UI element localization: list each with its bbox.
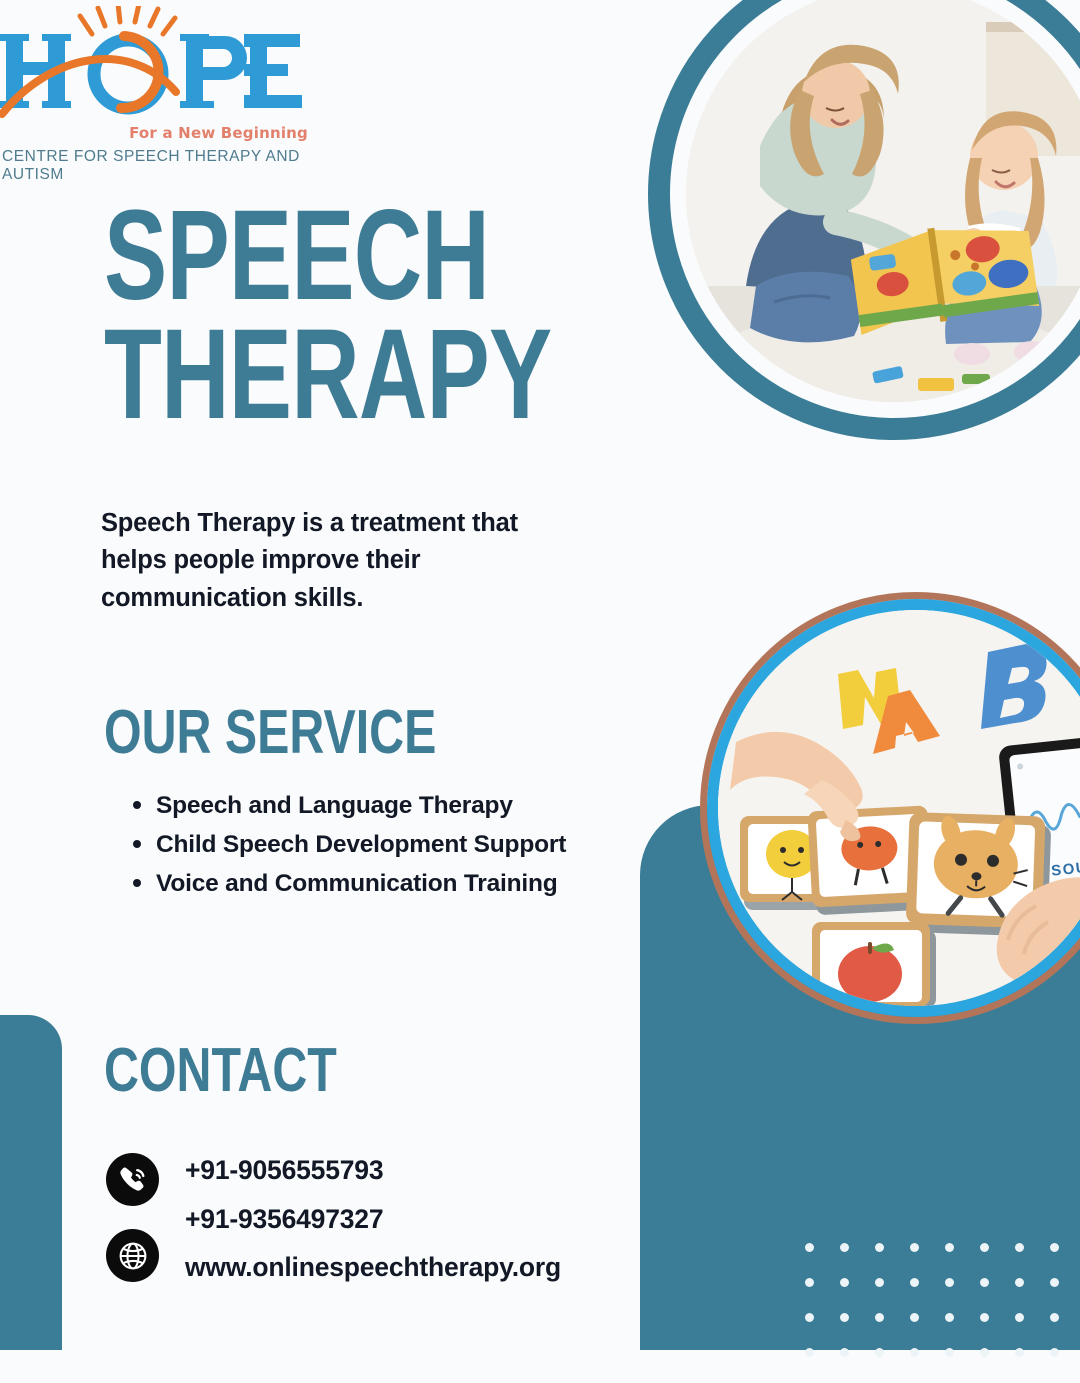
service-list-item: Child Speech Development Support	[128, 825, 648, 864]
decorative-dot	[805, 1348, 814, 1357]
decorative-dot	[1015, 1348, 1024, 1357]
hope-logo-icon	[0, 6, 330, 126]
page-title: SPEECH THERAPY	[104, 196, 452, 434]
decorative-dot	[1050, 1278, 1059, 1287]
decorative-dot	[875, 1313, 884, 1322]
contact-phone-1[interactable]: +91-9056555793	[185, 1155, 383, 1186]
decorative-dot	[945, 1348, 954, 1357]
decorative-dot	[910, 1243, 919, 1252]
decorative-dot	[1050, 1348, 1059, 1357]
decorative-dot	[805, 1313, 814, 1322]
decorative-dot	[875, 1243, 884, 1252]
contact-phone-2[interactable]: +91-9356497327	[185, 1204, 383, 1235]
decorative-dot	[980, 1313, 989, 1322]
decorative-dot	[1015, 1313, 1024, 1322]
headline-line-1: SPEECH	[104, 196, 452, 315]
decorative-dot-grid	[805, 1243, 1080, 1383]
decorative-dot	[980, 1243, 989, 1252]
decorative-dot	[840, 1278, 849, 1287]
decorative-dot	[1015, 1278, 1024, 1287]
intro-paragraph: Speech Therapy is a treatment that helps…	[101, 505, 531, 617]
decorative-dot	[980, 1278, 989, 1287]
contact-heading: CONTACT	[104, 1040, 337, 1102]
service-list-item: Voice and Communication Training	[128, 864, 648, 903]
services-list: Speech and Language TherapyChild Speech …	[128, 786, 648, 904]
decorative-dot	[980, 1348, 989, 1357]
decorative-dot	[840, 1243, 849, 1252]
contact-website[interactable]: www.onlinespeechtherapy.org	[185, 1252, 561, 1283]
decorative-dot	[910, 1348, 919, 1357]
photo-child-flashcards: SOUN	[700, 592, 1080, 1024]
decorative-dot	[840, 1348, 849, 1357]
decorative-dot	[875, 1348, 884, 1357]
logo-tagline: For a New Beginning	[129, 124, 308, 142]
services-heading: OUR SERVICE	[104, 702, 436, 764]
decorative-dot	[910, 1278, 919, 1287]
decorative-dot	[840, 1313, 849, 1322]
service-list-item: Speech and Language Therapy	[128, 786, 648, 825]
photo-mother-child-reading	[648, 0, 1080, 440]
decorative-dot	[805, 1243, 814, 1252]
decorative-dot	[875, 1278, 884, 1287]
decorative-dot	[1050, 1243, 1059, 1252]
decorative-dot	[1015, 1243, 1024, 1252]
decorative-dot	[945, 1278, 954, 1287]
brand-logo: For a New Beginning CENTRE FOR SPEECH TH…	[0, 6, 330, 166]
decorative-dot	[945, 1313, 954, 1322]
decorative-dot	[1050, 1313, 1059, 1322]
decorative-dot	[910, 1313, 919, 1322]
decorative-dot	[805, 1278, 814, 1287]
decorative-panel-left	[0, 1015, 62, 1350]
globe-icon	[106, 1229, 159, 1282]
headline-line-2: THERAPY	[104, 315, 452, 434]
phone-icon	[106, 1153, 159, 1206]
logo-subtitle: CENTRE FOR SPEECH THERAPY AND AUTISM	[2, 148, 330, 184]
decorative-dot	[945, 1243, 954, 1252]
